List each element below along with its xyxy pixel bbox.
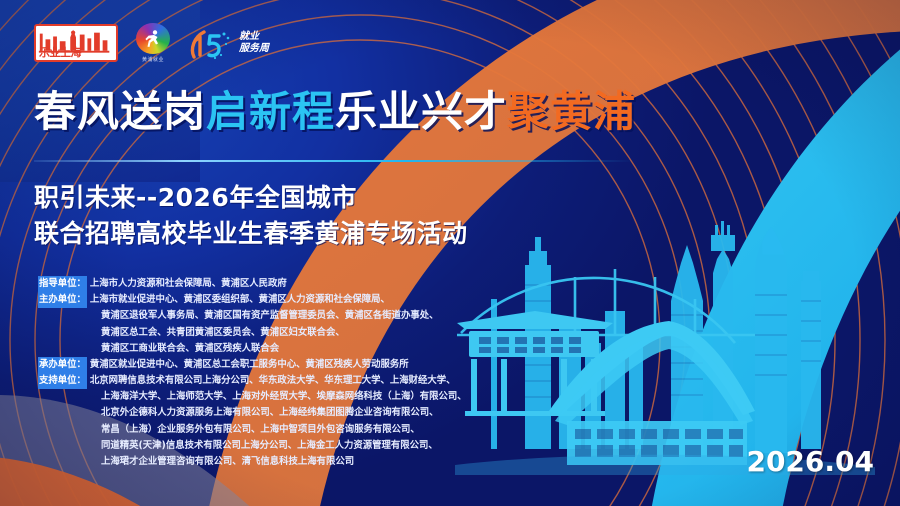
credit-text: 黄浦区工商业联合会、黄浦区残疾人联合会 <box>98 341 508 357</box>
credit-row: 黄浦区总工会、共青团黄浦区委员会、黄浦区妇女联合会、 <box>38 325 508 341</box>
logo-huangpu-employment-label: 黄浦就业 <box>142 56 164 63</box>
credit-text: 常昌（上海）企业服务外包有限公司、上海中智项目外包咨询服务有限公司、 <box>98 422 508 438</box>
logo-service-week-line1: 就业 <box>239 32 269 43</box>
logo-row: 乐业上海 黄浦就业 <box>34 22 269 64</box>
circular-runner-icon <box>136 23 170 54</box>
runner-figure-icon <box>142 28 164 50</box>
credit-text: 北京网聘信息技术有限公司上海分公司、华东政法大学、华东理工大学、上海财经大学、 <box>87 373 508 389</box>
headline-part-4: 聚黄浦 <box>507 87 636 136</box>
credit-row: 上海海洋大学、上海师范大学、上海对外经贸大学、埃摩森网络科技（上海）有限公司、 <box>38 389 508 405</box>
headline-part-1: 春风送岗 <box>34 87 206 136</box>
subtitle-line-1: 职引未来--2026年全国城市 <box>34 180 468 216</box>
credit-text: 黄浦区退役军人事务局、黄浦区国有资产监督管理委员会、黄浦区各街道办事处、 <box>98 308 508 324</box>
logo-service-week-line2: 服务周 <box>239 44 269 55</box>
event-date: 2026.04 <box>746 445 874 478</box>
credit-text: 上海市人力资源和社会保障局、黄浦区人民政府 <box>87 276 508 292</box>
anniversary-15-icon <box>188 25 234 61</box>
credit-text: 黄浦区总工会、共青团黄浦区委员会、黄浦区妇女联合会、 <box>98 325 508 341</box>
poster-canvas: 乐业上海 黄浦就业 <box>0 0 900 506</box>
credit-label-support: 支持单位： <box>38 373 87 389</box>
credit-row: 承办单位： 黄浦区就业促进中心、黄浦区总工会职工服务中心、黄浦区残疾人劳动服务所 <box>38 357 508 373</box>
logo-service-week-text: 就业 服务周 <box>239 32 269 54</box>
credit-row: 常昌（上海）企业服务外包有限公司、上海中智项目外包咨询服务有限公司、 <box>38 422 508 438</box>
headline-divider <box>34 160 634 162</box>
logo-employment-service-week: 就业 服务周 <box>188 23 269 63</box>
credit-text: 上海海洋大学、上海师范大学、上海对外经贸大学、埃摩森网络科技（上海）有限公司、 <box>98 389 508 405</box>
credit-row: 黄浦区工商业联合会、黄浦区残疾人联合会 <box>38 341 508 357</box>
logo-leye-shanghai: 乐业上海 <box>34 24 118 62</box>
credit-text: 北京外企德科人力资源服务上海有限公司、上海经纬集团图腾企业咨询有限公司、 <box>98 405 508 421</box>
credit-row: 上海珺才企业管理咨询有限公司、清飞信息科技上海有限公司 <box>38 454 508 470</box>
subtitle-line-2: 联合招聘高校毕业生春季黄浦专场活动 <box>34 216 468 252</box>
credit-text: 同道精英(天津)信息技术有限公司上海分公司、上海金工人力资源管理有限公司、 <box>98 438 508 454</box>
credit-row: 北京外企德科人力资源服务上海有限公司、上海经纬集团图腾企业咨询有限公司、 <box>38 405 508 421</box>
headline-part-2: 启新程 <box>206 87 335 136</box>
credit-row: 主办单位： 上海市就业促进中心、黄浦区委组织部、黄浦区人力资源和社会保障局、 <box>38 292 508 308</box>
organizer-credits: 指导单位： 上海市人力资源和社会保障局、黄浦区人民政府 主办单位： 上海市就业促… <box>38 276 508 470</box>
anniversary-15-glyph-icon <box>188 25 234 61</box>
main-headline: 春风送岗启新程乐业兴才聚黄浦 <box>34 91 636 133</box>
credit-text: 黄浦区就业促进中心、黄浦区总工会职工服务中心、黄浦区残疾人劳动服务所 <box>87 357 508 373</box>
credit-row: 同道精英(天津)信息技术有限公司上海分公司、上海金工人力资源管理有限公司、 <box>38 438 508 454</box>
credit-label-guidance: 指导单位： <box>38 276 87 292</box>
credit-label-organizer: 承办单位： <box>38 357 87 373</box>
logo-huangpu-employment: 黄浦就业 <box>136 23 170 63</box>
headline-part-3: 乐业兴才 <box>335 87 507 136</box>
credit-row: 支持单位： 北京网聘信息技术有限公司上海分公司、华东政法大学、华东理工大学、上海… <box>38 373 508 389</box>
credit-row: 指导单位： 上海市人力资源和社会保障局、黄浦区人民政府 <box>38 276 508 292</box>
logo-leye-shanghai-label: 乐业上海 <box>39 48 81 59</box>
credit-label-host: 主办单位： <box>38 292 87 308</box>
credit-text: 上海珺才企业管理咨询有限公司、清飞信息科技上海有限公司 <box>98 454 508 470</box>
event-subtitle: 职引未来--2026年全国城市 联合招聘高校毕业生春季黄浦专场活动 <box>34 180 468 251</box>
credit-row: 黄浦区退役军人事务局、黄浦区国有资产监督管理委员会、黄浦区各街道办事处、 <box>38 308 508 324</box>
credit-text: 上海市就业促进中心、黄浦区委组织部、黄浦区人力资源和社会保障局、 <box>87 292 508 308</box>
